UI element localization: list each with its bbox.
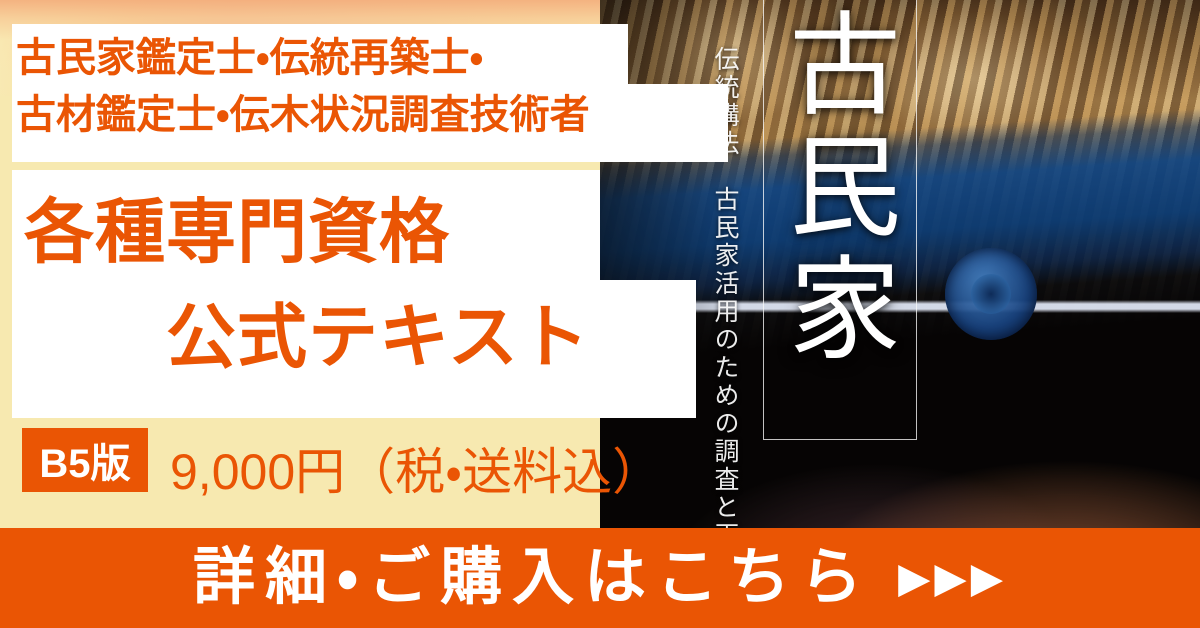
price-text: 9,000円（税・送料込） [170, 432, 662, 504]
format-badge: B5版 [22, 428, 148, 492]
headline-line-1: 古民家鑑定士・伝統再築士・ [16, 30, 716, 87]
cover-title: 古民家 [778, 6, 902, 372]
triangle-right-icon: ▶▶▶ [898, 557, 1007, 599]
cta-label: 詳細・ご購入はこちら [193, 547, 872, 609]
promo-banner: 伝統構法 古民家活用のための調査と再生の 古民家 古民家鑑定士・伝統再築士・ 古… [0, 0, 1200, 628]
headline-line-2: 古材鑑定士・伝木状況調査技術者 [16, 87, 716, 144]
main-copy-line-2: 公式テキスト [14, 285, 694, 390]
headline-text: 古民家鑑定士・伝統再築士・ 古材鑑定士・伝木状況調査技術者 [16, 30, 716, 144]
main-copy-text: 各種専門資格 公式テキスト [14, 180, 694, 390]
main-copy-line-1: 各種専門資格 [14, 180, 694, 285]
cta-button[interactable]: 詳細・ご購入はこちら ▶▶▶ [0, 528, 1200, 628]
